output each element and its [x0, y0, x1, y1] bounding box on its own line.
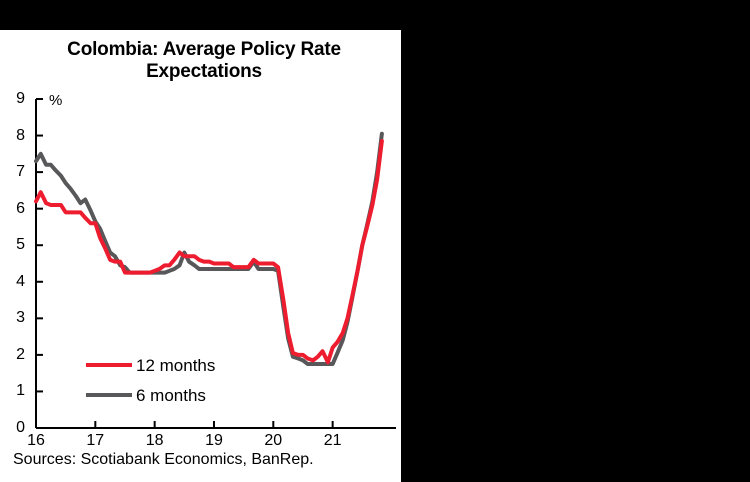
series-line-6-months — [36, 134, 382, 364]
x-axis-tick-label: 17 — [80, 432, 110, 450]
chart-panel: Colombia: Average Policy Rate Expectatio… — [0, 30, 401, 482]
y-axis-tick-label: 2 — [3, 346, 25, 364]
y-axis-tick-label: 1 — [3, 382, 25, 400]
chart-legend: 12 months 6 months — [86, 350, 215, 410]
source-note: Sources: Scotiabank Economics, BanRep. — [13, 451, 314, 469]
legend-swatch-6-months — [86, 393, 132, 397]
legend-label-12-months: 12 months — [136, 357, 215, 374]
y-axis-tick-label: 5 — [3, 236, 25, 254]
x-axis-ticks — [36, 421, 333, 428]
legend-swatch-12-months — [86, 363, 132, 367]
x-axis-tick-label: 16 — [21, 432, 51, 450]
x-axis-tick-label: 19 — [199, 432, 229, 450]
y-axis-tick-label: 9 — [3, 90, 25, 108]
screenshot-root: Colombia: Average Policy Rate Expectatio… — [0, 0, 750, 482]
x-axis-tick-label: 21 — [318, 432, 348, 450]
data-series-group — [36, 134, 382, 364]
y-axis-unit-label: % — [49, 92, 62, 109]
y-axis-tick-label: 4 — [3, 273, 25, 291]
x-axis-tick-label: 18 — [140, 432, 170, 450]
series-line-12-months — [36, 141, 382, 362]
y-axis-tick-label: 6 — [3, 200, 25, 218]
y-axis-tick-label: 7 — [3, 163, 25, 181]
y-axis-ticks — [36, 99, 43, 428]
y-axis-tick-label: 8 — [3, 127, 25, 145]
x-axis-tick-label: 20 — [258, 432, 288, 450]
legend-item-6-months: 6 months — [86, 380, 215, 410]
legend-label-6-months: 6 months — [136, 387, 206, 404]
y-axis-tick-label: 3 — [3, 309, 25, 327]
legend-item-12-months: 12 months — [86, 350, 215, 380]
